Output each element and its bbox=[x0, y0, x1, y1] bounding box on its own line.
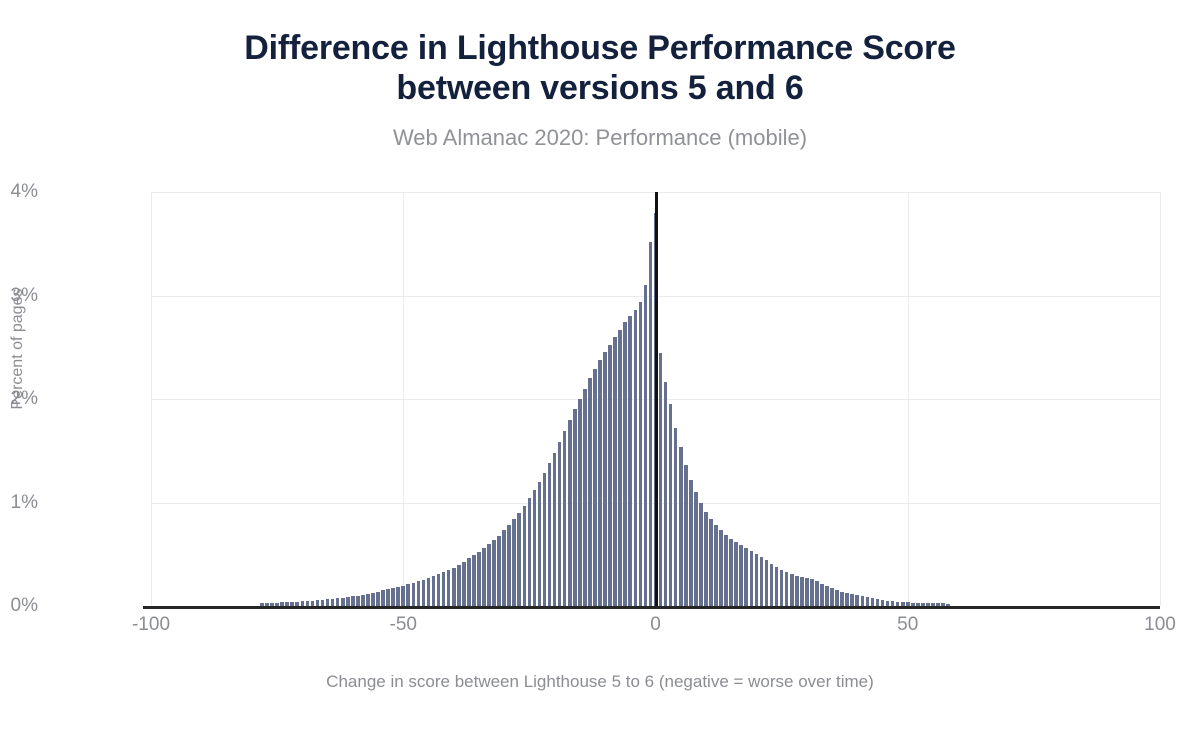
bar bbox=[573, 409, 577, 606]
bar bbox=[568, 420, 572, 606]
bar bbox=[739, 545, 743, 606]
bar bbox=[830, 588, 834, 606]
bar bbox=[699, 503, 703, 607]
bar bbox=[861, 596, 865, 606]
bar bbox=[628, 316, 632, 606]
bar bbox=[775, 567, 779, 606]
bar bbox=[825, 586, 829, 606]
x-axis-line bbox=[143, 606, 1160, 609]
bar bbox=[618, 330, 622, 606]
bar bbox=[512, 519, 516, 606]
y-tick-label: 1% bbox=[0, 492, 38, 514]
y-tick-label: 4% bbox=[0, 181, 38, 203]
bar bbox=[598, 360, 602, 606]
bar bbox=[744, 548, 748, 606]
x-tick-label: 100 bbox=[1100, 614, 1200, 636]
bar bbox=[815, 581, 819, 606]
y-tick-label: 2% bbox=[0, 388, 38, 410]
bar bbox=[457, 565, 461, 606]
bar bbox=[593, 369, 597, 606]
bar bbox=[517, 513, 521, 606]
gridline-vertical bbox=[403, 192, 404, 606]
bar bbox=[729, 539, 733, 606]
bar bbox=[523, 506, 527, 606]
bar bbox=[679, 447, 683, 606]
bar bbox=[381, 590, 385, 606]
bar bbox=[477, 552, 481, 606]
bar bbox=[704, 512, 708, 606]
bar bbox=[750, 551, 754, 606]
bar bbox=[876, 599, 880, 606]
bar bbox=[356, 596, 360, 606]
bar bbox=[548, 463, 552, 606]
bar bbox=[719, 530, 723, 606]
bar bbox=[401, 586, 405, 606]
bar bbox=[845, 593, 849, 606]
bar bbox=[386, 589, 390, 606]
bar bbox=[366, 594, 370, 606]
bar bbox=[694, 492, 698, 606]
bar bbox=[336, 598, 340, 606]
bar bbox=[805, 578, 809, 606]
bar bbox=[442, 572, 446, 606]
bar bbox=[664, 382, 668, 606]
bar bbox=[840, 592, 844, 606]
bar bbox=[613, 337, 617, 606]
bar bbox=[714, 525, 718, 606]
bar bbox=[634, 310, 638, 606]
bar bbox=[785, 572, 789, 606]
bar bbox=[538, 482, 542, 606]
bar bbox=[502, 530, 506, 606]
bar bbox=[689, 480, 693, 606]
bar bbox=[674, 428, 678, 606]
gridline-vertical bbox=[908, 192, 909, 606]
bar bbox=[724, 535, 728, 606]
bar bbox=[412, 583, 416, 606]
gridline-vertical bbox=[1160, 192, 1161, 606]
bar bbox=[452, 568, 456, 606]
bar bbox=[543, 473, 547, 607]
bar bbox=[427, 578, 431, 606]
bar bbox=[583, 389, 587, 606]
bar bbox=[866, 597, 870, 606]
bar bbox=[406, 584, 410, 606]
bar bbox=[422, 580, 426, 606]
bar bbox=[623, 322, 627, 606]
bar bbox=[770, 564, 774, 606]
bar bbox=[850, 594, 854, 606]
bar bbox=[760, 557, 764, 606]
bar bbox=[795, 576, 799, 606]
bar bbox=[553, 453, 557, 606]
bar bbox=[765, 560, 769, 606]
plot-area bbox=[151, 192, 1160, 606]
bar bbox=[790, 574, 794, 606]
bar bbox=[603, 352, 607, 606]
x-tick-label: -100 bbox=[91, 614, 211, 636]
bar bbox=[709, 519, 713, 606]
bar bbox=[588, 378, 592, 606]
bar bbox=[507, 525, 511, 606]
x-tick-label: 50 bbox=[848, 614, 968, 636]
bar bbox=[639, 302, 643, 606]
bar bbox=[467, 558, 471, 606]
bar bbox=[820, 584, 824, 606]
bar bbox=[482, 548, 486, 606]
bar bbox=[492, 540, 496, 606]
bar bbox=[371, 593, 375, 606]
bar bbox=[533, 490, 537, 606]
bar bbox=[684, 465, 688, 606]
bar bbox=[396, 587, 400, 606]
bar bbox=[462, 562, 466, 607]
bar bbox=[810, 579, 814, 606]
bar bbox=[346, 597, 350, 606]
bar bbox=[432, 576, 436, 606]
x-axis-title: Change in score between Lighthouse 5 to … bbox=[0, 672, 1200, 692]
zero-value-marker bbox=[655, 192, 658, 606]
chart-subtitle: Web Almanac 2020: Performance (mobile) bbox=[0, 125, 1200, 151]
bar bbox=[487, 544, 491, 606]
bar bbox=[528, 498, 532, 606]
bar bbox=[558, 442, 562, 606]
bar bbox=[351, 596, 355, 606]
bar bbox=[578, 399, 582, 606]
bar bbox=[341, 598, 345, 606]
bar bbox=[331, 599, 335, 606]
chart-title: Difference in Lighthouse Performance Sco… bbox=[0, 28, 1200, 108]
x-tick-label: -50 bbox=[343, 614, 463, 636]
bar bbox=[608, 345, 612, 606]
bar bbox=[800, 577, 804, 606]
bar bbox=[497, 536, 501, 606]
bar bbox=[447, 570, 451, 606]
bar bbox=[472, 555, 476, 606]
bar bbox=[437, 574, 441, 606]
bar bbox=[669, 404, 673, 606]
bar bbox=[649, 242, 653, 606]
y-tick-label: 0% bbox=[0, 595, 38, 617]
bar bbox=[361, 595, 365, 606]
title-block: Difference in Lighthouse Performance Sco… bbox=[0, 28, 1200, 108]
gridline-vertical bbox=[151, 192, 152, 606]
bar bbox=[391, 588, 395, 606]
bar bbox=[835, 590, 839, 606]
bar bbox=[659, 353, 663, 606]
bar bbox=[734, 542, 738, 606]
bar bbox=[780, 570, 784, 606]
bar bbox=[376, 592, 380, 606]
bar bbox=[563, 431, 567, 606]
bar bbox=[755, 554, 759, 606]
lighthouse-score-difference-chart: Difference in Lighthouse Performance Sco… bbox=[0, 0, 1200, 742]
bar bbox=[326, 599, 330, 606]
bar bbox=[855, 595, 859, 606]
bar bbox=[644, 285, 648, 606]
bar bbox=[417, 581, 421, 606]
x-tick-label: 0 bbox=[596, 614, 716, 636]
bar bbox=[871, 598, 875, 606]
y-tick-label: 3% bbox=[0, 285, 38, 307]
